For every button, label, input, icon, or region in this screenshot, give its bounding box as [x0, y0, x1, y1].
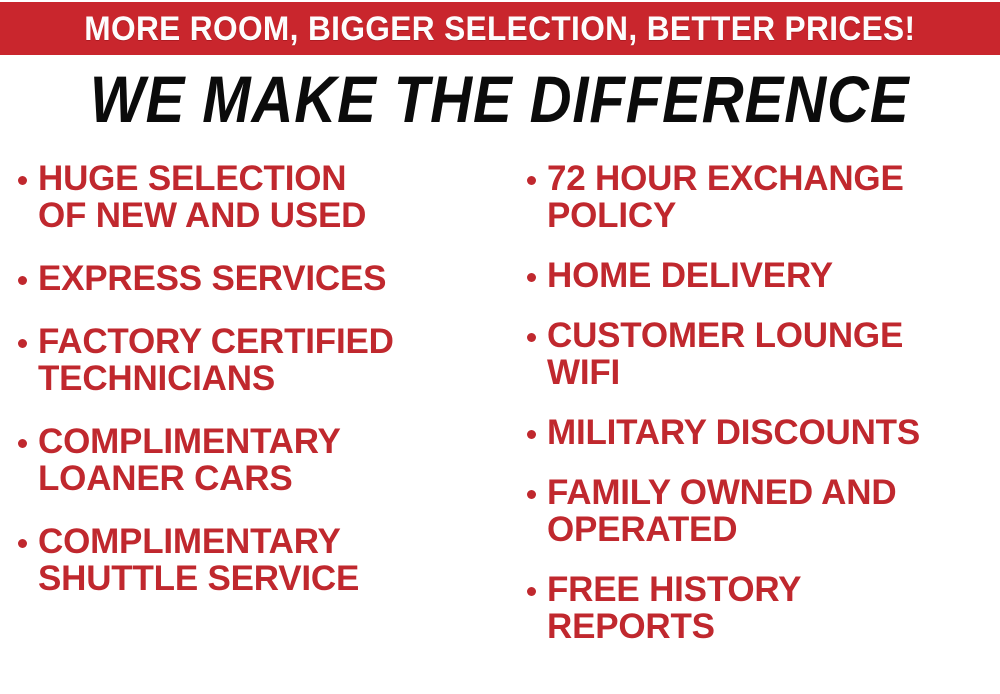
list-item: MILITARY DISCOUNTS	[527, 414, 1000, 451]
list-item-label: HUGE SELECTION OF NEW AND USED	[38, 160, 366, 234]
benefits-column-right: 72 HOUR EXCHANGE POLICY HOME DELIVERY CU…	[505, 160, 1000, 668]
list-item-label: HOME DELIVERY	[547, 257, 833, 294]
list-item: CUSTOMER LOUNGE WIFI	[527, 317, 1000, 391]
page-title: WE MAKE THE DIFFERENCE	[0, 66, 1000, 132]
bullet-dot-icon	[527, 490, 536, 499]
list-item: FAMILY OWNED AND OPERATED	[527, 474, 1000, 548]
bullet-dot-icon	[527, 273, 536, 282]
bullet-dot-icon	[527, 176, 536, 185]
list-item: HOME DELIVERY	[527, 257, 1000, 294]
page-title-text: WE MAKE THE DIFFERENCE	[90, 66, 910, 132]
list-item: EXPRESS SERVICES	[18, 260, 505, 297]
list-item: 72 HOUR EXCHANGE POLICY	[527, 160, 1000, 234]
bullet-dot-icon	[527, 430, 536, 439]
list-item-label: CUSTOMER LOUNGE WIFI	[547, 317, 903, 391]
list-item: HUGE SELECTION OF NEW AND USED	[18, 160, 505, 234]
benefits-columns: HUGE SELECTION OF NEW AND USED EXPRESS S…	[0, 160, 1000, 694]
dealership-promo-banner: MORE ROOM, BIGGER SELECTION, BETTER PRIC…	[0, 0, 1000, 694]
list-item-label: MILITARY DISCOUNTS	[547, 414, 920, 451]
benefits-column-left: HUGE SELECTION OF NEW AND USED EXPRESS S…	[0, 160, 505, 623]
list-item-label: FREE HISTORY REPORTS	[547, 571, 801, 645]
bullet-dot-icon	[18, 339, 27, 348]
bullet-dot-icon	[18, 539, 27, 548]
list-item-label: FACTORY CERTIFIED TECHNICIANS	[38, 323, 394, 397]
list-item-label: EXPRESS SERVICES	[38, 260, 386, 297]
list-item-label: COMPLIMENTARY SHUTTLE SERVICE	[38, 523, 359, 597]
bullet-dot-icon	[18, 439, 27, 448]
list-item-label: COMPLIMENTARY LOANER CARS	[38, 423, 341, 497]
list-item-label: FAMILY OWNED AND OPERATED	[547, 474, 896, 548]
bullet-dot-icon	[527, 587, 536, 596]
bullet-dot-icon	[527, 333, 536, 342]
bullet-dot-icon	[18, 276, 27, 285]
list-item: FACTORY CERTIFIED TECHNICIANS	[18, 323, 505, 397]
list-item-label: 72 HOUR EXCHANGE POLICY	[547, 160, 904, 234]
list-item: COMPLIMENTARY SHUTTLE SERVICE	[18, 523, 505, 597]
bullet-dot-icon	[18, 176, 27, 185]
list-item: COMPLIMENTARY LOANER CARS	[18, 423, 505, 497]
top-banner-strip: MORE ROOM, BIGGER SELECTION, BETTER PRIC…	[0, 2, 1000, 55]
list-item: FREE HISTORY REPORTS	[527, 571, 1000, 645]
banner-headline-text: MORE ROOM, BIGGER SELECTION, BETTER PRIC…	[84, 12, 915, 46]
